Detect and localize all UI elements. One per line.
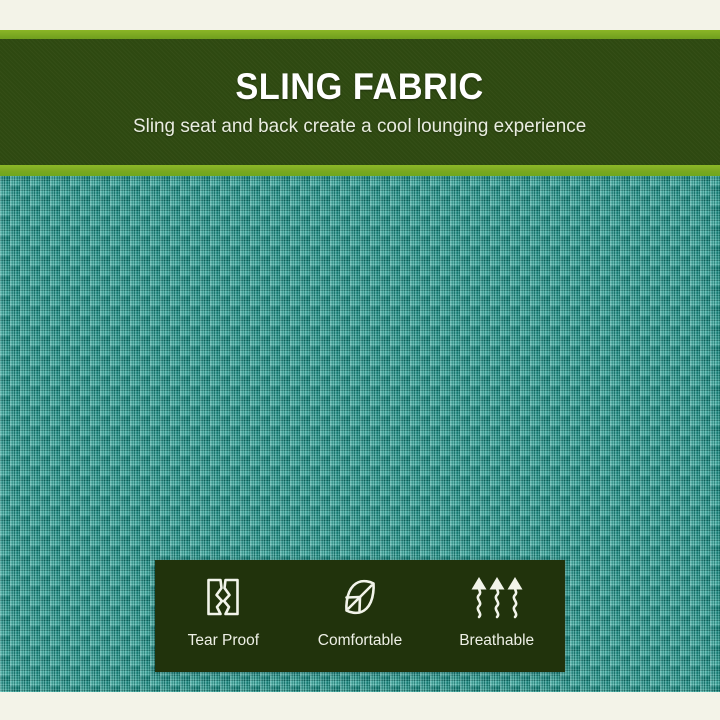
page-subtitle: Sling seat and back create a cool loungi… — [133, 117, 586, 137]
feature-callout-bar: Tear Proof Comfortable — [155, 560, 565, 672]
product-feature-image: SLING FABRIC Sling seat and back create … — [0, 0, 720, 720]
feature-item-breathable: Breathable — [428, 560, 565, 672]
feature-label-comfortable: Comfortable — [318, 633, 402, 649]
feature-item-comfortable: Comfortable — [292, 560, 429, 672]
bottom-margin-band — [0, 692, 720, 720]
feature-item-tear-proof: Tear Proof — [155, 560, 292, 672]
headline-banner: SLING FABRIC Sling seat and back create … — [0, 39, 720, 165]
feature-label-tear-proof: Tear Proof — [188, 633, 260, 649]
airflow-arrows-icon — [470, 571, 524, 623]
page-title: SLING FABRIC — [236, 68, 484, 105]
feature-label-breathable: Breathable — [459, 633, 534, 649]
top-margin-band — [0, 0, 720, 30]
leaf-icon — [337, 571, 383, 623]
torn-fabric-icon — [200, 571, 246, 623]
banner-bottom-accent-rule — [0, 165, 720, 176]
banner-top-accent-rule — [0, 30, 720, 39]
